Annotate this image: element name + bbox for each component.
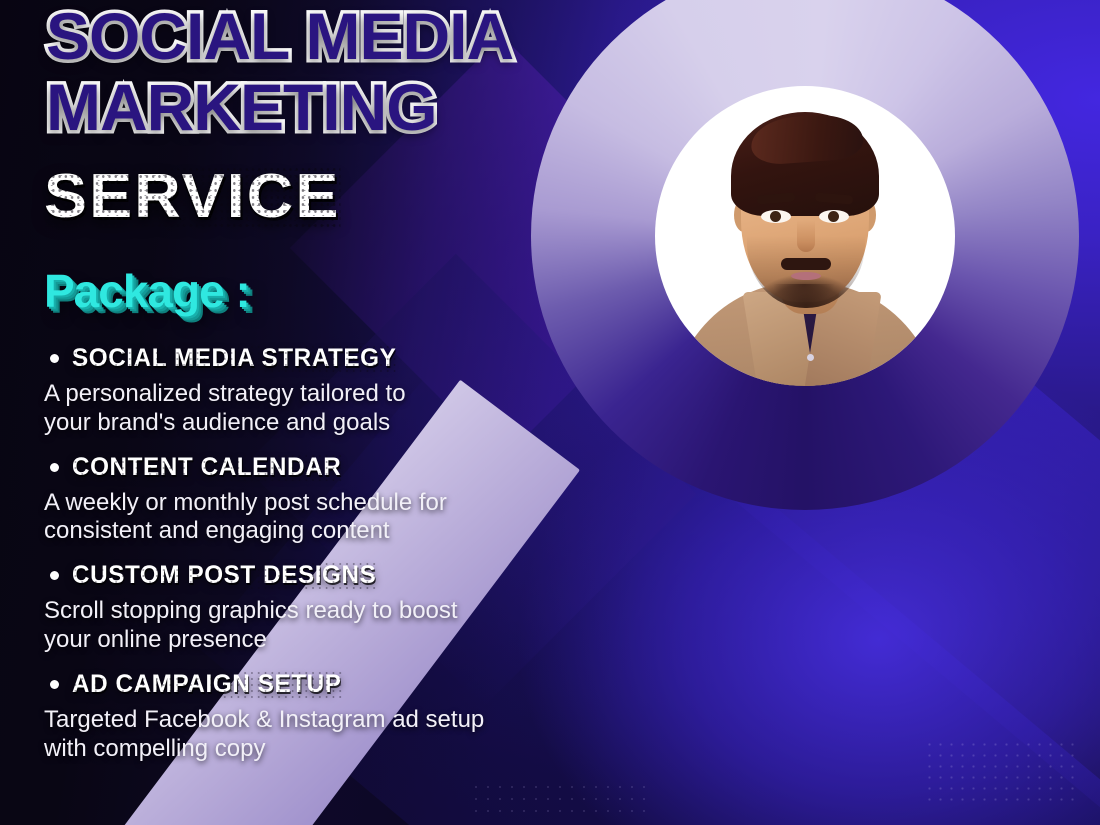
headline-line-2: MARKETING xyxy=(46,75,586,140)
portrait-nose xyxy=(797,220,815,252)
list-item-description: A personalized strategy tailored to your… xyxy=(44,380,584,438)
list-item: CUSTOM POST DESIGNS Scroll stopping grap… xyxy=(44,561,584,655)
list-item: CONTENT CALENDAR A weekly or monthly pos… xyxy=(44,453,584,547)
list-item-header: AD CAMPAIGN SETUP xyxy=(44,670,584,699)
list-item-header: SOCIAL MEDIA STRATEGY xyxy=(44,344,584,373)
portrait-photo xyxy=(655,86,955,386)
portrait-iris-left xyxy=(770,211,781,222)
promotional-poster: SOCIAL MEDIA MARKETING SERVICE Package :… xyxy=(0,0,1100,825)
headline-block: SOCIAL MEDIA MARKETING xyxy=(46,4,586,139)
portrait-mouth xyxy=(791,272,821,280)
bullet-icon xyxy=(50,571,59,580)
list-item-header: CUSTOM POST DESIGNS xyxy=(44,561,584,590)
list-item: AD CAMPAIGN SETUP Targeted Facebook & In… xyxy=(44,670,584,764)
package-list: SOCIAL MEDIA STRATEGY A personalized str… xyxy=(44,344,584,778)
bullet-icon xyxy=(50,680,59,689)
list-item-description: Scroll stopping graphics ready to boost … xyxy=(44,597,584,655)
list-item-title: CUSTOM POST DESIGNS xyxy=(72,561,376,590)
portrait-iris-right xyxy=(828,211,839,222)
headline-line-1: SOCIAL MEDIA xyxy=(46,4,586,69)
list-item-header: CONTENT CALENDAR xyxy=(44,453,584,482)
headline-line-3-service: SERVICE xyxy=(44,166,340,228)
portrait-moustache xyxy=(781,258,831,270)
list-item-description: A weekly or monthly post schedule for co… xyxy=(44,489,584,547)
list-item-title: SOCIAL MEDIA STRATEGY xyxy=(72,344,396,373)
list-item-title: AD CAMPAIGN SETUP xyxy=(72,670,341,699)
portrait-chin-shadow xyxy=(773,284,835,302)
portrait-circle xyxy=(655,86,955,386)
list-item: SOCIAL MEDIA STRATEGY A personalized str… xyxy=(44,344,584,438)
bullet-icon xyxy=(50,354,59,363)
bullet-icon xyxy=(50,463,59,472)
list-item-description: Targeted Facebook & Instagram ad setup w… xyxy=(44,706,584,764)
dot-texture xyxy=(924,739,1074,809)
package-heading: Package : xyxy=(44,268,250,314)
portrait-shirt-button xyxy=(807,354,814,361)
text-column: SOCIAL MEDIA MARKETING SERVICE Package :… xyxy=(0,0,600,825)
list-item-title: CONTENT CALENDAR xyxy=(72,453,341,482)
